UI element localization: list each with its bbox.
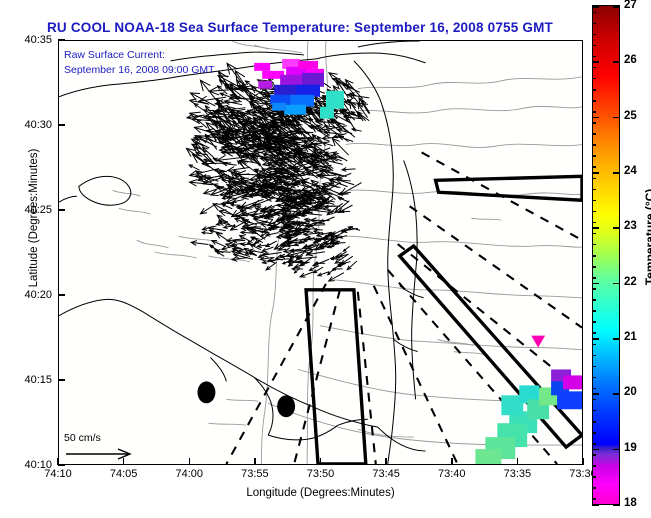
colorbar-minor-tick: [592, 377, 596, 379]
colorbar-tick-mark: [613, 449, 620, 451]
colorbar-tick-label: 24: [624, 165, 637, 177]
current-vector-head: [312, 126, 319, 132]
colorbar-minor-tick: [592, 344, 596, 346]
current-vector: [330, 243, 345, 244]
colorbar-minor-tick: [592, 355, 596, 357]
x-tick-mark: [517, 458, 519, 465]
x-tick-label: 73:40: [438, 468, 466, 480]
x-tick-label: 73:50: [307, 468, 335, 480]
colorbar-tick-label: 21: [624, 331, 637, 343]
x-tick-mark: [582, 458, 584, 465]
colorbar-minor-tick: [592, 321, 596, 323]
colorbar-tick-mark: [613, 283, 620, 285]
colorbar-tick-mark: [592, 117, 599, 119]
colorbar-tick-mark: [592, 504, 599, 506]
colorbar-tick-mark: [592, 338, 599, 340]
current-vector-head: [304, 146, 311, 152]
colorbar-minor-tick: [592, 277, 596, 279]
x-tick-label: 74:00: [175, 468, 203, 480]
colorbar-tick-mark: [613, 6, 620, 8]
map-plot-area[interactable]: [58, 40, 583, 465]
colorbar-minor-tick: [592, 166, 596, 168]
colorbar-minor-tick: [592, 56, 596, 58]
y-tick-mark: [58, 294, 65, 296]
colorbar-tick-mark: [592, 172, 599, 174]
x-tick-label: 73:45: [372, 468, 400, 480]
colorbar-minor-tick: [592, 399, 596, 401]
vector-scale-arrow-icon: [64, 447, 138, 461]
colorbar-minor-tick: [592, 67, 596, 69]
colorbar-tick-mark: [613, 393, 620, 395]
colorbar-minor-tick: [592, 432, 596, 434]
annotation-line-2: September 16, 2008 09:00 GMT: [64, 63, 215, 78]
colorbar-tick-mark: [613, 172, 620, 174]
colorbar-minor-tick: [592, 487, 596, 489]
colorbar-minor-tick: [592, 12, 596, 14]
colorbar-minor-tick: [592, 200, 596, 202]
colorbar-minor-tick: [592, 144, 596, 146]
colorbar-minor-tick: [592, 23, 596, 25]
y-tick-label: 40:15: [24, 374, 52, 386]
colorbar-gradient: [593, 6, 619, 504]
colorbar-minor-tick: [592, 299, 596, 301]
colorbar-minor-tick: [592, 443, 596, 445]
colorbar-tick-label: 26: [624, 54, 637, 66]
colorbar-minor-tick: [592, 89, 596, 91]
colorbar-minor-tick: [592, 45, 596, 47]
colorbar-minor-tick: [592, 233, 596, 235]
colorbar-minor-tick: [592, 78, 596, 80]
colorbar-tick-mark: [613, 504, 620, 506]
y-tick-label: 40:35: [24, 34, 52, 46]
current-vector: [319, 246, 334, 247]
colorbar-tick-label: 23: [624, 220, 637, 232]
y-tick-mark: [58, 464, 65, 466]
colorbar-tick-label: 20: [624, 386, 637, 398]
x-tick-label: 73:35: [504, 468, 532, 480]
x-tick-label: 74:05: [110, 468, 138, 480]
y-tick-mark: [58, 39, 65, 41]
temperature-colorbar[interactable]: [592, 5, 620, 505]
x-tick-mark: [385, 458, 387, 465]
colorbar-tick-mark: [592, 61, 599, 63]
vector-scale-key: 50 cm/s: [64, 432, 160, 461]
current-vector: [286, 196, 307, 197]
x-axis-label: Longitude (Degrees:Minutes): [58, 487, 583, 499]
colorbar-tick-label: 25: [624, 110, 637, 122]
map-canvas: [59, 41, 582, 464]
y-tick-label: 40:10: [24, 459, 52, 471]
colorbar-tick-mark: [592, 449, 599, 451]
colorbar-minor-tick: [592, 454, 596, 456]
page-title: RU COOL NOAA-18 Sea Surface Temperature:…: [0, 20, 600, 35]
colorbar-minor-tick: [592, 222, 596, 224]
colorbar-minor-tick: [592, 34, 596, 36]
colorbar-title: Temperature (°C): [643, 147, 651, 327]
colorbar-tick-label: 27: [624, 0, 637, 11]
colorbar-minor-tick: [592, 310, 596, 312]
y-tick-mark: [58, 379, 65, 381]
colorbar-tick-mark: [613, 227, 620, 229]
y-tick-mark: [58, 124, 65, 126]
current-annotation: Raw Surface Current: September 16, 2008 …: [64, 48, 215, 78]
colorbar-tick-label: 19: [624, 442, 637, 454]
colorbar-tick-mark: [592, 283, 599, 285]
colorbar-minor-tick: [592, 178, 596, 180]
colorbar-minor-tick: [592, 100, 596, 102]
colorbar-tick-label: 22: [624, 276, 637, 288]
colorbar-minor-tick: [592, 189, 596, 191]
colorbar-minor-tick: [592, 155, 596, 157]
current-vector: [266, 262, 276, 270]
annotation-line-1: Raw Surface Current:: [64, 48, 215, 63]
colorbar-minor-tick: [592, 244, 596, 246]
colorbar-minor-tick: [592, 421, 596, 423]
colorbar-minor-tick: [592, 111, 596, 113]
colorbar-tick-mark: [592, 6, 599, 8]
colorbar-minor-tick: [592, 410, 596, 412]
x-tick-mark: [254, 458, 256, 465]
colorbar-minor-tick: [592, 476, 596, 478]
colorbar-minor-tick: [592, 266, 596, 268]
colorbar-minor-tick: [592, 288, 596, 290]
current-vector: [194, 104, 205, 112]
x-tick-label: 73:55: [241, 468, 269, 480]
vector-scale-label: 50 cm/s: [64, 432, 160, 444]
station-markers: [197, 381, 295, 417]
x-tick-mark: [320, 458, 322, 465]
colorbar-tick-mark: [613, 61, 620, 63]
colorbar-tick-mark: [592, 393, 599, 395]
colorbar-tick-label: 18: [624, 497, 637, 509]
x-tick-mark: [189, 458, 191, 465]
y-axis-label: Latitude (Degrees:Minutes): [28, 98, 40, 338]
colorbar-minor-tick: [592, 211, 596, 213]
colorbar-minor-tick: [592, 498, 596, 500]
shipping-lane-polygons: [306, 176, 582, 464]
y-tick-mark: [58, 209, 65, 211]
colorbar-minor-tick: [592, 366, 596, 368]
colorbar-minor-tick: [592, 332, 596, 334]
colorbar-tick-mark: [592, 227, 599, 229]
colorbar-minor-tick: [592, 122, 596, 124]
colorbar-tick-mark: [613, 117, 620, 119]
colorbar-minor-tick: [592, 133, 596, 135]
current-vector-head: [200, 208, 207, 214]
x-tick-mark: [123, 458, 125, 465]
colorbar-minor-tick: [592, 255, 596, 257]
colorbar-tick-mark: [613, 338, 620, 340]
current-vector: [340, 183, 361, 195]
colorbar-minor-tick: [592, 465, 596, 467]
colorbar-minor-tick: [592, 388, 596, 390]
x-tick-mark: [451, 458, 453, 465]
